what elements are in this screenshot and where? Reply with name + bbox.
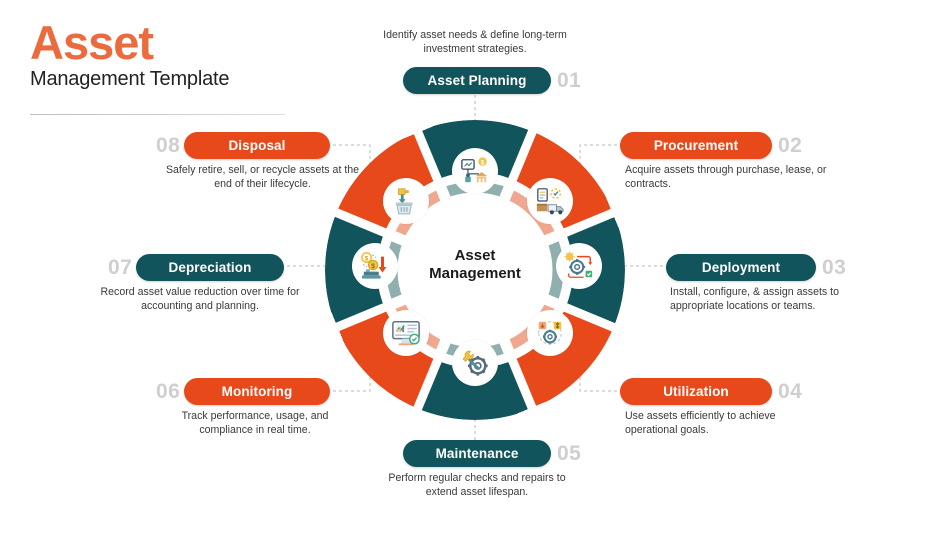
- step-number-01: 01: [557, 69, 581, 93]
- maintenance-wrench-icon: [452, 340, 498, 386]
- page-subtitle: Management Template: [30, 66, 290, 92]
- title-block: Asset Management Template: [30, 18, 290, 92]
- step-description-01: Identify asset needs & define long-term …: [370, 28, 580, 56]
- step-description-02: Acquire assets through purchase, lease, …: [625, 163, 840, 191]
- step-number-04: 04: [778, 380, 802, 404]
- deployment-gear-icon: [556, 243, 602, 289]
- infographic-canvas: Asset Management Template: [0, 0, 950, 534]
- step-number-03: 03: [822, 256, 846, 280]
- step-label-disposal[interactable]: Disposal: [184, 132, 330, 159]
- step-label-procurement[interactable]: Procurement: [620, 132, 772, 159]
- step-number-06: 06: [156, 380, 180, 404]
- center-label: Asset Management: [415, 247, 535, 283]
- step-description-04: Use assets efficiently to achieve operat…: [625, 409, 825, 437]
- step-description-08: Safely retire, sell, or recycle assets a…: [160, 163, 365, 191]
- step-number-08: 08: [156, 134, 180, 158]
- page-title: Asset: [30, 18, 290, 68]
- asset-planning-icon: $: [452, 148, 498, 194]
- title-divider: [30, 114, 285, 115]
- monitoring-dashboard-icon: [383, 310, 429, 356]
- step-number-02: 02: [778, 134, 802, 158]
- step-label-asset-planning[interactable]: Asset Planning: [403, 67, 551, 94]
- step-label-deployment[interactable]: Deployment: [666, 254, 816, 281]
- step-description-07: Record asset value reduction over time f…: [100, 285, 300, 313]
- step-description-03: Install, configure, & assign assets to a…: [670, 285, 855, 313]
- step-description-05: Perform regular checks and repairs to ex…: [372, 471, 582, 499]
- step-label-monitoring[interactable]: Monitoring: [184, 378, 330, 405]
- svg-text:$: $: [365, 255, 369, 262]
- utilization-cycle-icon: [527, 310, 573, 356]
- step-description-06: Track performance, usage, and compliance…: [155, 409, 355, 437]
- procurement-truck-icon: [527, 178, 573, 224]
- svg-text:$: $: [371, 263, 375, 270]
- disposal-bin-icon: [383, 178, 429, 224]
- depreciation-coins-icon: $ $: [352, 243, 398, 289]
- step-label-depreciation[interactable]: Depreciation: [136, 254, 284, 281]
- step-label-utilization[interactable]: Utilization: [620, 378, 772, 405]
- step-number-07: 07: [108, 256, 132, 280]
- step-number-05: 05: [557, 442, 581, 466]
- step-label-maintenance[interactable]: Maintenance: [403, 440, 551, 467]
